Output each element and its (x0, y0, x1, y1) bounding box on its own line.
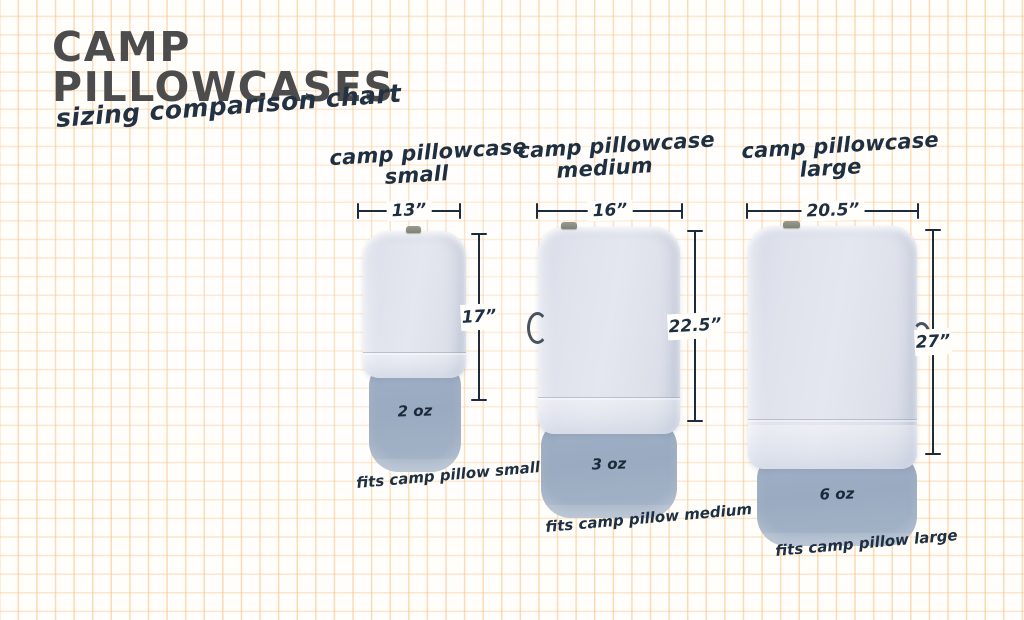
hang-tab-medium (561, 222, 577, 229)
pillow-medium: 3 oz (541, 420, 677, 518)
width-dimension-medium: 16” (536, 203, 683, 219)
pillowcase-small (363, 231, 466, 378)
width-label-large: 20.5” (801, 200, 865, 222)
pillowcase-medium (538, 227, 680, 434)
height-dimension-small: 17” (471, 233, 487, 401)
width-label-small: 13” (386, 200, 431, 222)
seam-line (748, 419, 917, 420)
hem-band (538, 398, 680, 434)
height-label-small: 17” (460, 303, 498, 331)
height-dimension-medium: 22.5” (687, 230, 703, 422)
hang-tab-large (783, 221, 800, 228)
height-label-large: 27” (914, 328, 952, 356)
pillowcase-large (748, 226, 917, 469)
hem-band (363, 353, 466, 378)
hem-band (748, 425, 917, 469)
hang-tab-small (406, 226, 421, 233)
weight-label-large: 6 oz (757, 483, 917, 505)
title-line-1: CAMP (52, 28, 395, 68)
height-dimension-large: 27” (925, 229, 941, 455)
width-dimension-small: 13” (357, 203, 461, 219)
side-loop-medium (527, 312, 548, 344)
height-label-medium: 22.5” (667, 312, 723, 341)
width-dimension-large: 20.5” (746, 203, 919, 219)
weight-label-medium: 3 oz (541, 453, 677, 475)
weight-label-small: 2 oz (369, 401, 461, 421)
infographic-canvas: CAMP PILLOWCASES sizing comparison chart… (0, 0, 1024, 620)
width-label-medium: 16” (587, 200, 632, 222)
